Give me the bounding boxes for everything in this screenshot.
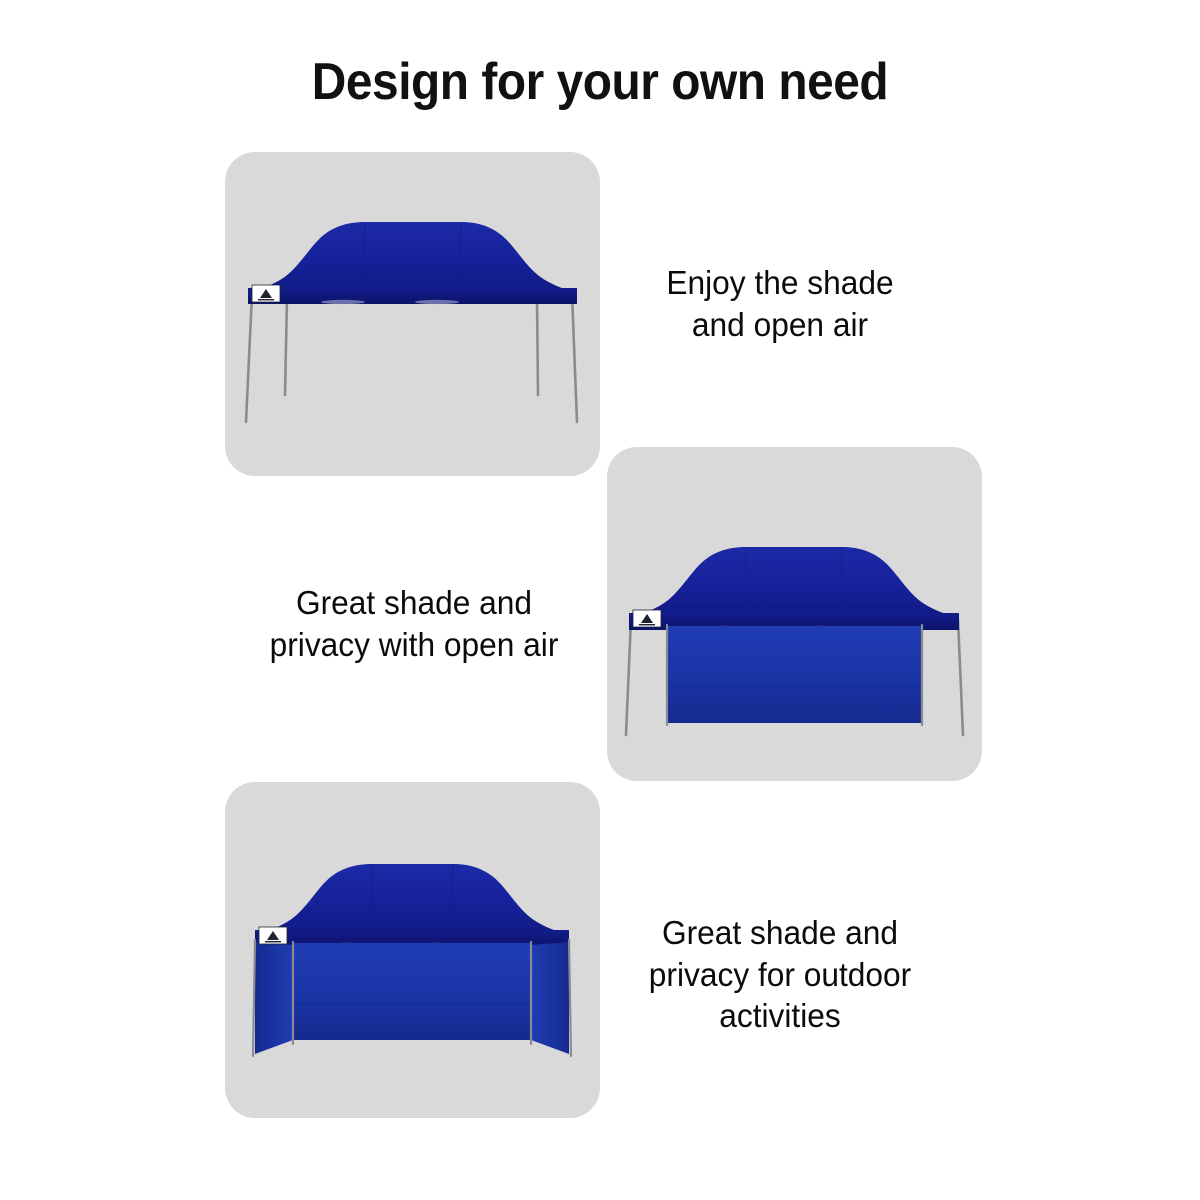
gazebo-no-walls-illustration [225, 152, 600, 476]
page-title: Design for your own need [48, 52, 1152, 112]
marketing-image-stage: Design for your own need [0, 0, 1200, 1200]
caption-shade-privacy-open-air: Great shade and privacy with open air [235, 582, 592, 665]
caption-shade-privacy-outdoor: Great shade and privacy for outdoor acti… [619, 912, 942, 1037]
product-image-panel-shade-privacy-open-air [607, 447, 982, 781]
gazebo-three-walls-illustration [225, 782, 600, 1118]
caption-shade-open-air: Enjoy the shade and open air [622, 262, 939, 345]
gazebo-logo-icon [259, 927, 287, 944]
gazebo-logo-icon [252, 285, 280, 302]
product-image-panel-shade-privacy-outdoor [225, 782, 600, 1118]
gazebo-logo-icon [633, 610, 661, 627]
gazebo-one-wall-illustration [607, 447, 982, 781]
product-image-panel-shade-open-air [225, 152, 600, 476]
